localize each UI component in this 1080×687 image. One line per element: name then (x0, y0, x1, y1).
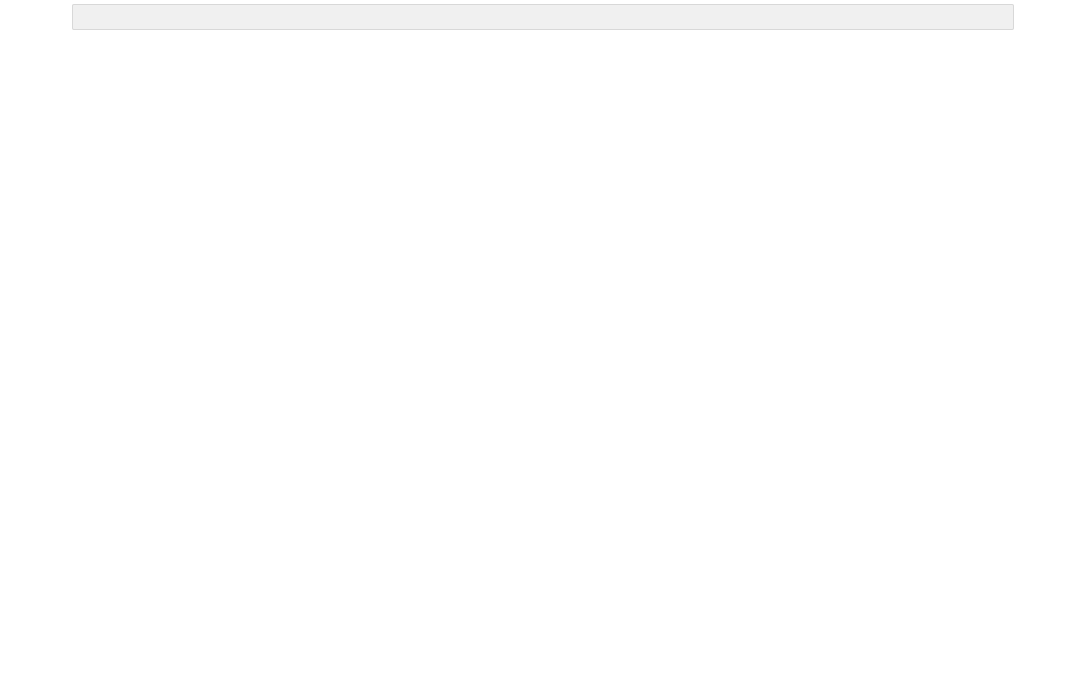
subplot-grid (0, 30, 1080, 568)
figure-container (0, 0, 1080, 687)
chart-legend (72, 4, 1014, 30)
